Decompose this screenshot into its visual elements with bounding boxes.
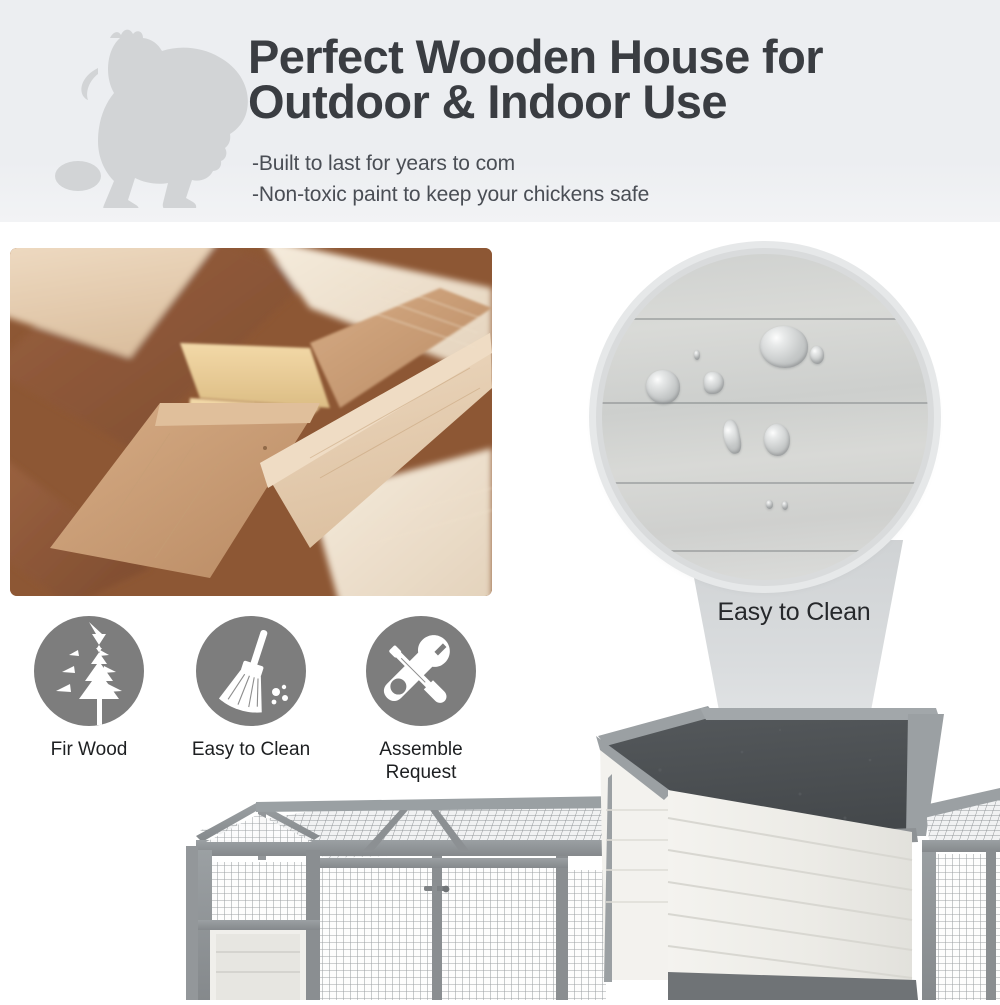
magnifier-label: Easy to Clean — [588, 598, 1000, 627]
water-droplet — [782, 501, 788, 510]
wood-planks-photo — [10, 248, 492, 596]
water-droplet — [810, 346, 824, 364]
header-bullets: -Built to last for years to com -Non-tox… — [252, 148, 649, 210]
headline-line-1: Perfect Wooden House for — [248, 34, 988, 79]
chicken-silhouette-icon — [38, 18, 258, 208]
water-droplet — [760, 326, 808, 368]
water-droplet — [721, 419, 744, 456]
header-bullet-1: -Built to last for years to com — [252, 148, 649, 179]
water-droplet — [764, 424, 790, 456]
magnifier-lens — [596, 248, 934, 586]
headline-line-2: Outdoor & Indoor Use — [248, 79, 988, 124]
chicken-coop-product-image — [0, 690, 1000, 1000]
magnifier-callout-icon: Easy to Clean — [588, 240, 1000, 760]
siding-surface — [602, 254, 928, 580]
header-band: Perfect Wooden House for Outdoor & Indoo… — [0, 0, 1000, 222]
water-droplet — [646, 370, 680, 404]
water-droplet — [704, 372, 724, 394]
water-droplet — [766, 500, 773, 509]
header-bullet-2: -Non-toxic paint to keep your chickens s… — [252, 179, 649, 210]
water-droplet — [694, 350, 700, 360]
page-title: Perfect Wooden House for Outdoor & Indoo… — [248, 34, 988, 124]
